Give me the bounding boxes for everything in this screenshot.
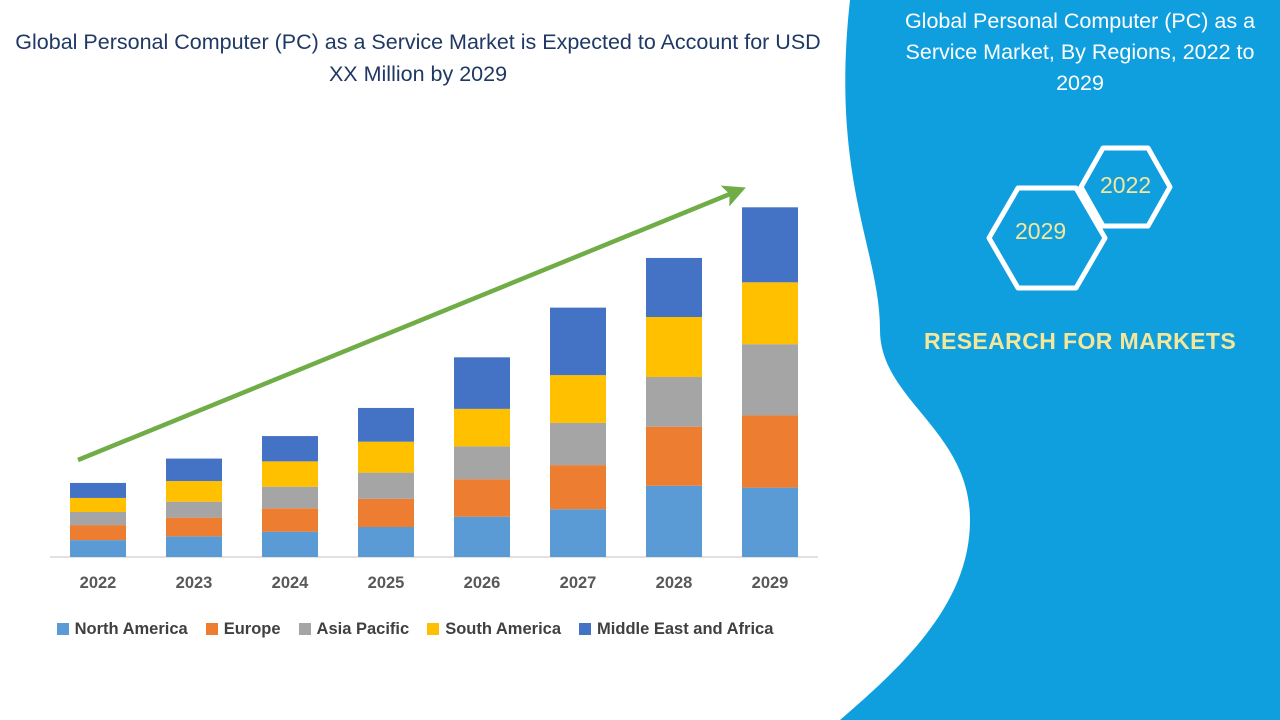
legend-label: North America — [75, 620, 188, 639]
x-axis-tick-label: 2023 — [149, 574, 239, 593]
bar-segment — [70, 498, 126, 512]
panel-title: Global Personal Computer (PC) as a Servi… — [885, 6, 1275, 99]
x-axis-tick-label: 2022 — [53, 574, 143, 593]
hexagon-group: 2022 2029 — [970, 140, 1230, 300]
bar-segment — [70, 512, 126, 525]
legend-item[interactable]: South America — [427, 620, 561, 639]
bar-segment — [646, 427, 702, 486]
bar-segment — [262, 487, 318, 509]
x-axis-tick-label: 2026 — [437, 574, 527, 593]
legend-swatch-icon — [206, 623, 218, 635]
bar-segment — [550, 423, 606, 465]
legend-label: Middle East and Africa — [597, 620, 773, 639]
hexagon-2029-label: 2029 — [1015, 218, 1066, 245]
bar-segment — [454, 446, 510, 479]
bar-segment — [166, 502, 222, 518]
legend-swatch-icon — [299, 623, 311, 635]
x-axis-tick-label: 2029 — [725, 574, 815, 593]
bar-segment — [646, 258, 702, 317]
legend-item[interactable]: North America — [57, 620, 188, 639]
bar-segment — [550, 509, 606, 557]
legend-item[interactable]: Middle East and Africa — [579, 620, 773, 639]
hexagon-icons — [970, 140, 1230, 300]
bar-segment — [358, 527, 414, 557]
bar-segment — [166, 459, 222, 482]
legend-item[interactable]: Europe — [206, 620, 281, 639]
bar-segment — [262, 436, 318, 461]
bar-segment — [454, 479, 510, 517]
chart-title: Global Personal Computer (PC) as a Servi… — [8, 26, 828, 90]
right-brand-panel: Global Personal Computer (PC) as a Servi… — [820, 0, 1280, 720]
x-axis-tick-label: 2025 — [341, 574, 431, 593]
bar-segment — [742, 344, 798, 415]
bar-segment — [358, 499, 414, 527]
bar-segment — [742, 282, 798, 344]
bar-segment — [70, 525, 126, 540]
bar-segment — [166, 518, 222, 537]
bar-segment — [550, 375, 606, 423]
x-axis-tick-label: 2028 — [629, 574, 719, 593]
bar-segment — [550, 465, 606, 509]
chart-canvas — [0, 150, 830, 570]
bar-segment — [550, 308, 606, 376]
x-axis-labels: 20222023202420252026202720282029 — [0, 574, 830, 600]
bar-segment — [262, 532, 318, 557]
bar-segment — [742, 415, 798, 487]
legend-label: South America — [445, 620, 561, 639]
legend-swatch-icon — [579, 623, 591, 635]
bar-segment — [454, 357, 510, 409]
bar-segment — [70, 540, 126, 557]
bar-segment — [358, 408, 414, 442]
x-axis-tick-label: 2024 — [245, 574, 335, 593]
legend-label: Asia Pacific — [317, 620, 410, 639]
bar-segment — [166, 481, 222, 502]
bar-segment — [70, 483, 126, 498]
legend-label: Europe — [224, 620, 281, 639]
bar-segment — [454, 517, 510, 557]
bar-segment — [742, 488, 798, 557]
stacked-bar-chart — [0, 150, 830, 570]
bar-segment — [358, 473, 414, 499]
bar-segment — [742, 207, 798, 282]
legend-swatch-icon — [57, 623, 69, 635]
bar-segment — [358, 442, 414, 473]
bar-segment — [646, 486, 702, 557]
bar-segment — [646, 317, 702, 377]
bar-segment — [166, 536, 222, 557]
panel-background-shape — [820, 0, 1280, 720]
legend-swatch-icon — [427, 623, 439, 635]
bar-segment — [262, 508, 318, 531]
x-axis-tick-label: 2027 — [533, 574, 623, 593]
bar-segment — [646, 377, 702, 427]
infographic-slide: Global Personal Computer (PC) as a Servi… — [0, 0, 1280, 720]
hexagon-2022-label: 2022 — [1100, 172, 1151, 199]
brand-name: RESEARCH FOR MARKETS — [880, 325, 1280, 357]
bar-segment — [262, 461, 318, 486]
legend-item[interactable]: Asia Pacific — [299, 620, 410, 639]
chart-legend: North AmericaEuropeAsia PacificSouth Ame… — [0, 616, 830, 642]
bar-segment — [454, 409, 510, 447]
